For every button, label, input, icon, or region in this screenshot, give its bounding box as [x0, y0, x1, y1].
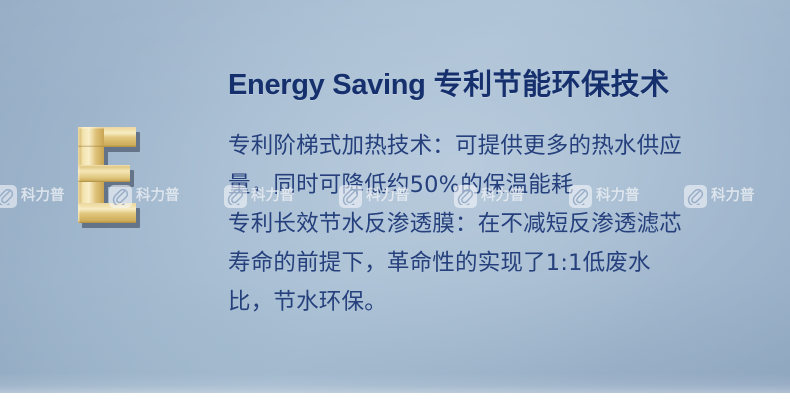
- headline: Energy Saving 专利节能环保技术: [228, 64, 768, 105]
- gold-letter-e-logo: [78, 127, 140, 228]
- body-line-2: 量，同时可降低约50%的保温能耗: [228, 166, 768, 204]
- body-line-5: 比，节水环保。: [228, 283, 768, 321]
- body-line-4: 寿命的前提下，革命性的实现了1:1低废水: [228, 244, 768, 282]
- energy-saving-banner: Energy Saving 专利节能环保技术 专利阶梯式加热技术：可提供更多的热…: [0, 0, 790, 400]
- background-bottom-fade: [0, 373, 790, 393]
- bottom-white-strip: [0, 393, 790, 400]
- body-line-1: 专利阶梯式加热技术：可提供更多的热水供应: [228, 127, 768, 165]
- headline-latin: Energy Saving: [228, 69, 426, 101]
- body-line-3: 专利长效节水反渗透膜：在不减短反渗透滤芯: [228, 205, 768, 243]
- body-text: 专利阶梯式加热技术：可提供更多的热水供应 量，同时可降低约50%的保温能耗 专利…: [228, 127, 768, 321]
- text-content: Energy Saving 专利节能环保技术 专利阶梯式加热技术：可提供更多的热…: [228, 64, 768, 321]
- headline-cjk: 专利节能环保技术: [434, 67, 670, 101]
